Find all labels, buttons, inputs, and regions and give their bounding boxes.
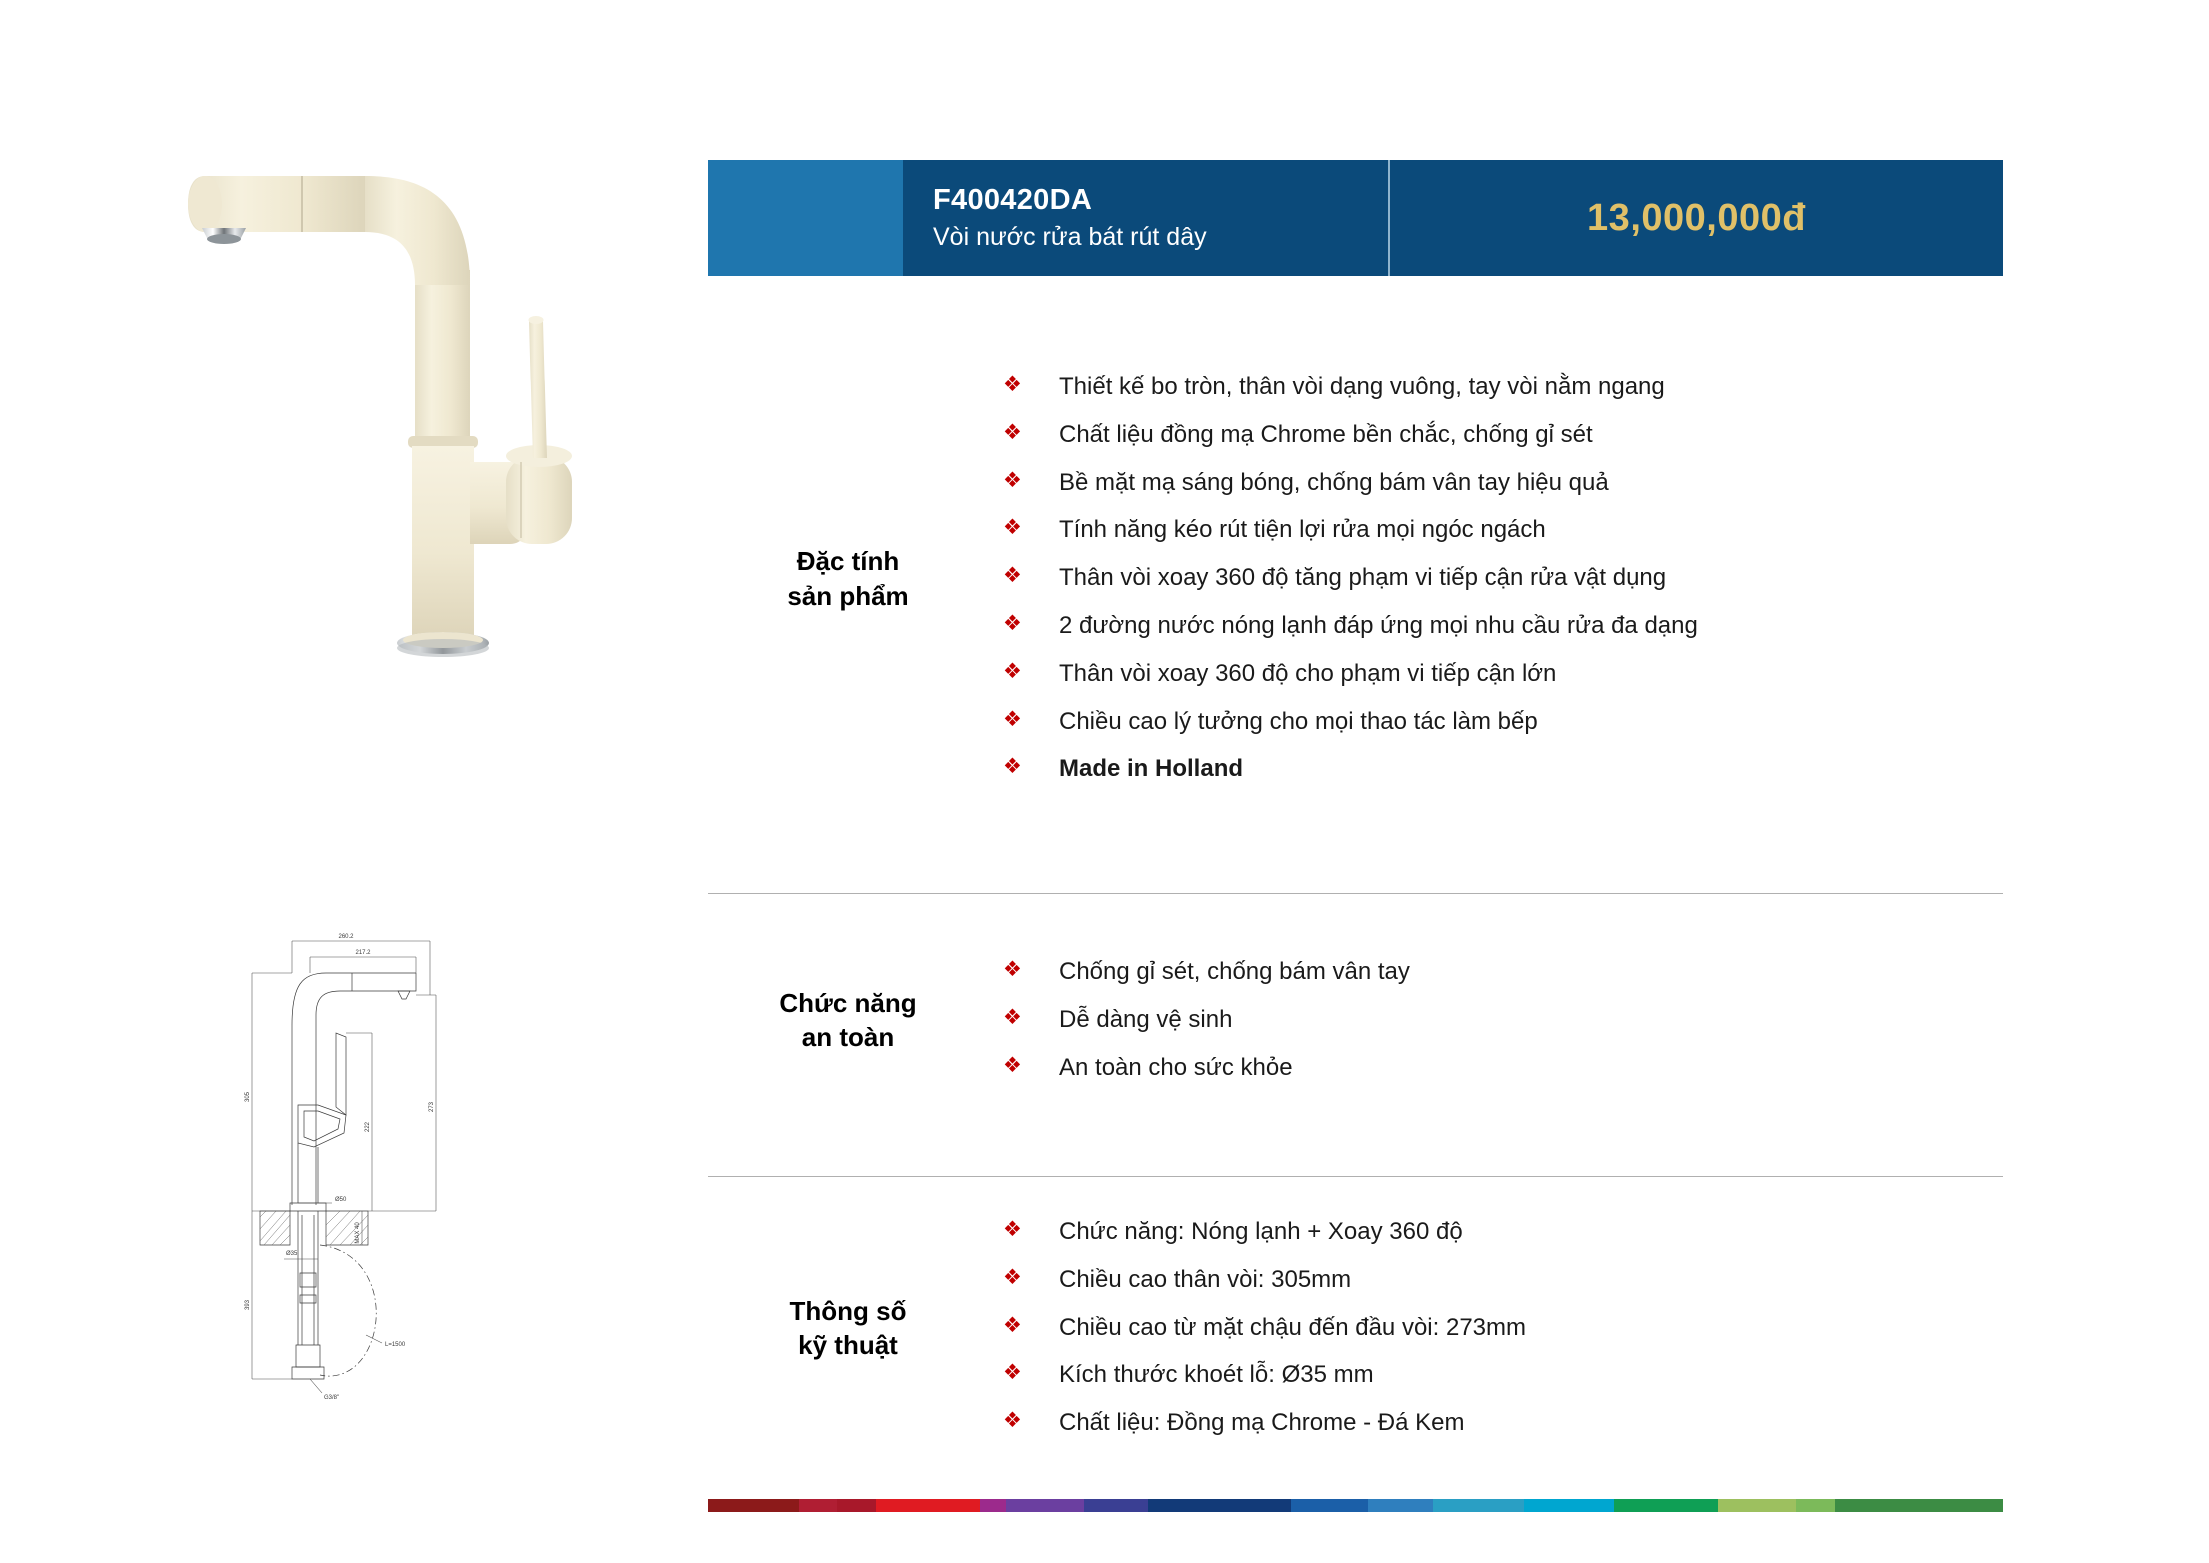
- specs-list: ❖ Chức năng: Nóng lạnh + Xoay 360 độ ❖ C…: [988, 1215, 2003, 1441]
- footer-color-segment-10: [1433, 1499, 1524, 1512]
- footer-color-segment-11: [1524, 1499, 1615, 1512]
- list-item: ❖ Dễ dàng vệ sinh: [1003, 1003, 2003, 1038]
- product-price: 13,000,000đ: [1587, 197, 1806, 240]
- footer-color-segment-8: [1291, 1499, 1369, 1512]
- footer-color-segment-4: [980, 1499, 1006, 1512]
- list-item: ❖ An toàn cho sức khỏe: [1003, 1051, 2003, 1086]
- list-item-text: Bề mặt mạ sáng bóng, chống bám vân tay h…: [1059, 466, 1609, 501]
- dim-217: 217.2: [355, 950, 371, 956]
- dim-273: 273: [429, 1101, 435, 1112]
- list-item-text: Made in Holland: [1059, 752, 1243, 787]
- list-item: ❖ Made in Holland: [1003, 752, 2003, 787]
- diamond-bullet-icon: ❖: [1003, 1406, 1059, 1436]
- list-item-text: Dễ dàng vệ sinh: [1059, 1003, 1232, 1038]
- dim-393: 393: [245, 1299, 251, 1310]
- list-item-text: Thân vòi xoay 360 độ cho phạm vi tiếp cậ…: [1059, 657, 1556, 692]
- list-item-text: An toàn cho sức khỏe: [1059, 1051, 1293, 1086]
- list-item-text: Chất liệu: Đồng mạ Chrome - Đá Kem: [1059, 1406, 1465, 1441]
- diamond-bullet-icon: ❖: [1003, 1263, 1059, 1293]
- diamond-bullet-icon: ❖: [1003, 370, 1059, 400]
- feature-list: ❖ Thiết kế bo tròn, thân vòi dạng vuông,…: [988, 370, 2003, 787]
- product-code: F400420DA: [933, 182, 1388, 218]
- section-divider: [708, 893, 2003, 894]
- dim-d50: Ø50: [335, 1197, 347, 1203]
- dim-305: 305: [245, 1091, 251, 1102]
- list-item: ❖ Thiết kế bo tròn, thân vòi dạng vuông,…: [1003, 370, 2003, 405]
- footer-color-segment-5: [1006, 1499, 1084, 1512]
- diamond-bullet-icon: ❖: [1003, 657, 1059, 687]
- list-item: ❖ Chống gỉ sét, chống bám vân tay: [1003, 955, 2003, 990]
- list-item: ❖ Chiều cao lý tưởng cho mọi thao tác là…: [1003, 705, 2003, 740]
- diamond-bullet-icon: ❖: [1003, 1003, 1059, 1033]
- dim-thread: G3/8": [324, 1395, 339, 1401]
- list-item: ❖ Chức năng: Nóng lạnh + Xoay 360 độ: [1003, 1215, 2003, 1250]
- dim-max40: MAX 40: [355, 1222, 361, 1244]
- diamond-bullet-icon: ❖: [1003, 609, 1059, 639]
- diamond-bullet-icon: ❖: [1003, 955, 1059, 985]
- diamond-bullet-icon: ❖: [1003, 561, 1059, 591]
- dim-hose-length: L=1500: [385, 1342, 406, 1348]
- list-item-text: Kích thước khoét lỗ: Ø35 mm: [1059, 1358, 1374, 1393]
- product-name: Vòi nước rửa bát rút dây: [933, 221, 1388, 255]
- footer-color-segment-9: [1368, 1499, 1433, 1512]
- footer-color-segment-6: [1084, 1499, 1149, 1512]
- safety-list: ❖ Chống gỉ sét, chống bám vân tay ❖ Dễ d…: [988, 955, 2003, 1085]
- footer-color-segment-12: [1614, 1499, 1718, 1512]
- diamond-bullet-icon: ❖: [1003, 513, 1059, 543]
- footer-color-segment-15: [1835, 1499, 2003, 1512]
- list-item-text: Thân vòi xoay 360 độ tăng phạm vi tiếp c…: [1059, 561, 1666, 596]
- footer-color-segment-13: [1718, 1499, 1796, 1512]
- list-item: ❖ Chất liệu: Đồng mạ Chrome - Đá Kem: [1003, 1406, 2003, 1441]
- diamond-bullet-icon: ❖: [1003, 418, 1059, 448]
- list-item: ❖ Chiều cao thân vòi: 305mm: [1003, 1263, 2003, 1298]
- footer-color-segment-7: [1148, 1499, 1290, 1512]
- list-item: ❖ Bề mặt mạ sáng bóng, chống bám vân tay…: [1003, 466, 2003, 501]
- price-block: 13,000,000đ: [1388, 160, 2003, 276]
- dim-260: 260.2: [338, 934, 354, 940]
- list-item-text: Chiều cao thân vòi: 305mm: [1059, 1263, 1351, 1298]
- list-item: ❖ Chiều cao từ mặt chậu đến đầu vòi: 273…: [1003, 1311, 2003, 1346]
- diamond-bullet-icon: ❖: [1003, 1215, 1059, 1245]
- section-product-features: Đặc tính sản phẩm ❖ Thiết kế bo tròn, th…: [708, 370, 2003, 787]
- list-item-text: Chức năng: Nóng lạnh + Xoay 360 độ: [1059, 1215, 1463, 1250]
- section-divider: [708, 1176, 2003, 1177]
- section-label-specs: Thông số kỹ thuật: [708, 1294, 988, 1363]
- footer-color-segment-3: [876, 1499, 980, 1512]
- section-label-safety: Chức năng an toàn: [708, 986, 988, 1055]
- list-item: ❖ Thân vòi xoay 360 độ tăng phạm vi tiếp…: [1003, 561, 2003, 596]
- list-item-text: Chất liệu đồng mạ Chrome bền chắc, chống…: [1059, 418, 1593, 453]
- footer-color-segment-14: [1796, 1499, 1835, 1512]
- list-item-text: Thiết kế bo tròn, thân vòi dạng vuông, t…: [1059, 370, 1665, 405]
- dim-222: 222: [365, 1121, 371, 1132]
- technical-drawing: 260.2 217.2 305 273 222 Ø50 Ø35 MAX 40 3…: [240, 915, 550, 1445]
- footer-color-segment-0: [708, 1499, 799, 1512]
- header-title-block: F400420DA Vòi nước rửa bát rút dây: [903, 160, 1388, 276]
- diamond-bullet-icon: ❖: [1003, 705, 1059, 735]
- list-item: ❖ Chất liệu đồng mạ Chrome bền chắc, chố…: [1003, 418, 2003, 453]
- dim-d35: Ø35: [286, 1251, 298, 1257]
- diamond-bullet-icon: ❖: [1003, 1051, 1059, 1081]
- footer-color-segment-1: [799, 1499, 838, 1512]
- footer-color-bar: [708, 1499, 2003, 1512]
- list-item-text: 2 đường nước nóng lạnh đáp ứng mọi nhu c…: [1059, 609, 1698, 644]
- list-item-text: Chiều cao lý tưởng cho mọi thao tác làm …: [1059, 705, 1538, 740]
- diamond-bullet-icon: ❖: [1003, 1358, 1059, 1388]
- footer-color-segment-2: [837, 1499, 876, 1512]
- header-accent-block: [708, 160, 903, 276]
- section-technical-specs: Thông số kỹ thuật ❖ Chức năng: Nóng lạnh…: [708, 1215, 2003, 1441]
- list-item-text: Tính năng kéo rút tiện lợi rửa mọi ngóc …: [1059, 513, 1546, 548]
- product-header-bar: F400420DA Vòi nước rửa bát rút dây 13,00…: [708, 160, 2003, 276]
- list-item-text: Chống gỉ sét, chống bám vân tay: [1059, 955, 1410, 990]
- diamond-bullet-icon: ❖: [1003, 752, 1059, 782]
- diamond-bullet-icon: ❖: [1003, 1311, 1059, 1341]
- list-item-text: Chiều cao từ mặt chậu đến đầu vòi: 273mm: [1059, 1311, 1526, 1346]
- diamond-bullet-icon: ❖: [1003, 466, 1059, 496]
- list-item: ❖ 2 đường nước nóng lạnh đáp ứng mọi nhu…: [1003, 609, 2003, 644]
- section-safety-functions: Chức năng an toàn ❖ Chống gỉ sét, chống …: [708, 955, 2003, 1085]
- product-photo: [150, 140, 650, 700]
- section-label-features: Đặc tính sản phẩm: [708, 544, 988, 613]
- list-item: ❖ Kích thước khoét lỗ: Ø35 mm: [1003, 1358, 2003, 1393]
- list-item: ❖ Thân vòi xoay 360 độ cho phạm vi tiếp …: [1003, 657, 2003, 692]
- list-item: ❖ Tính năng kéo rút tiện lợi rửa mọi ngó…: [1003, 513, 2003, 548]
